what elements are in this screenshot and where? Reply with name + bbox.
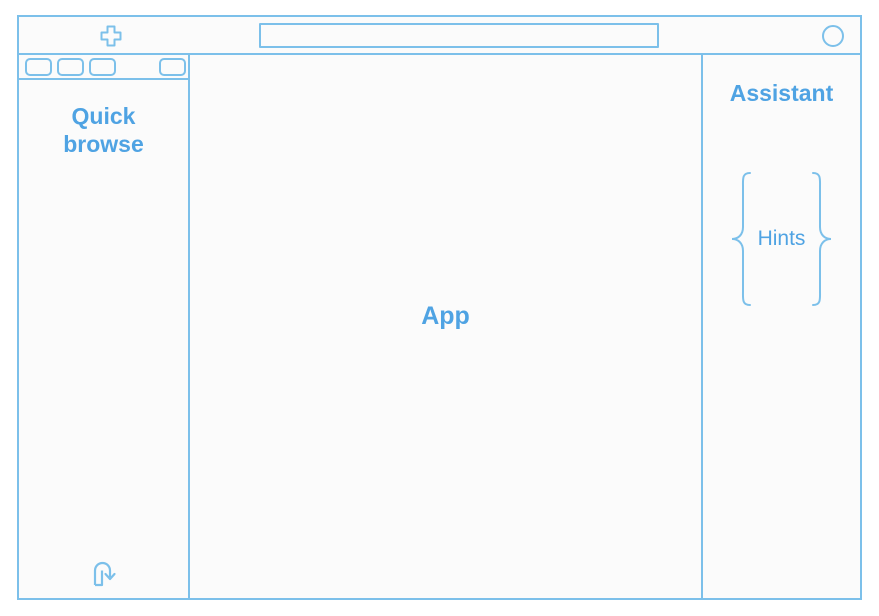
sidebar-content: Quick browse — [19, 80, 188, 598]
avatar[interactable] — [822, 25, 844, 47]
address-bar[interactable] — [259, 23, 659, 48]
plus-icon — [98, 24, 124, 48]
toolbar-chip-2[interactable] — [57, 58, 84, 76]
sidebar-footer — [19, 538, 188, 598]
toolbar-chip-4[interactable] — [159, 58, 186, 76]
u-turn-back-icon-glyph — [89, 558, 121, 588]
main-body: Quick browse App Assistant — [19, 55, 860, 598]
hints-block: Hints — [703, 169, 860, 309]
new-tab-button[interactable] — [97, 24, 125, 48]
u-turn-back-icon[interactable] — [89, 558, 121, 588]
app-title: App — [421, 302, 470, 331]
top-bar — [19, 17, 860, 55]
window-frame: Quick browse App Assistant — [17, 15, 862, 600]
sidebar-title: Quick browse — [39, 102, 169, 158]
assistant-panel: Assistant Hints — [703, 55, 860, 598]
assistant-title: Assistant — [730, 80, 834, 107]
toolbar-chip-1[interactable] — [25, 58, 52, 76]
toolbar-chip-3[interactable] — [89, 58, 116, 76]
left-brace-icon — [728, 169, 754, 309]
right-brace-icon — [809, 169, 835, 309]
app-content-area: App — [190, 55, 703, 598]
hints-label: Hints — [758, 227, 806, 251]
sidebar: Quick browse — [19, 55, 190, 598]
sidebar-toolbar — [19, 55, 188, 80]
